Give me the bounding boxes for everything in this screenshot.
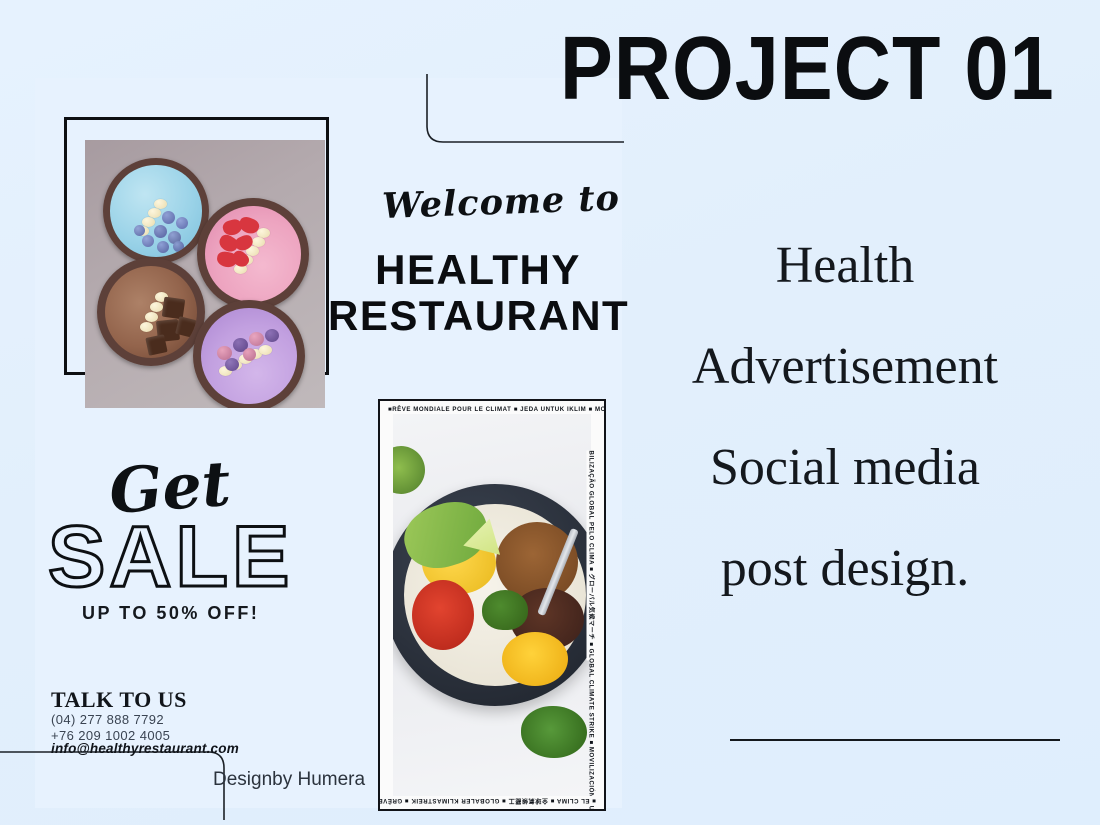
horizontal-rule [730,739,1060,741]
brand-name: HEALTHY RESTAURANT [328,247,628,339]
tomato-salsa-portion [412,580,474,650]
smoothie-bowls-photo [85,140,325,408]
poster-canvas: PROJECT 01 Health Advertisement Social m… [0,0,1100,825]
sale-script-text: Get [107,447,233,528]
avocado-half-decoration [393,446,425,494]
description-line-4: post design. [620,518,1070,619]
page-title: PROJECT 01 [560,16,1055,120]
climate-band-bottom: ■ EL CLIMA ■ 全球氣候罷工 ■ GLOBALER KLIMASTRE… [388,796,596,805]
welcome-script-text: Welcome to [382,178,621,227]
rice-base [404,504,586,686]
burrito-bowl-photo [393,414,591,796]
contact-email: info@healthyrestaurant.com [51,741,239,756]
description-line-3: Social media [620,417,1070,518]
phone-number-1: (04) 277 888 7792 [51,712,170,728]
smoothie-bowl-chocolate [97,258,205,366]
smoothie-bowl-blueberry [103,158,209,264]
climate-band-top: ■RÊVE MONDIALE POUR LE CLIMAT ■ JEDA UNT… [388,405,596,414]
cilantro-sprig [521,706,587,758]
description-line-2: Advertisement [620,316,1070,417]
design-credit: Designby Humera [213,769,365,791]
description-block: Health Advertisement Social media post d… [620,215,1070,619]
smoothie-bowl-raspberry [193,300,305,408]
smoothie-bowl-strawberry [197,198,309,310]
contact-phones: (04) 277 888 7792 +76 209 1002 4005 [51,712,170,744]
brand-line-1: HEALTHY [375,246,581,293]
contact-heading: TALK TO US [51,687,187,713]
climate-band-right: BILIZAÇÃO GLOBAL PELO CLIMA ■ グローバル気候マーチ… [587,451,596,661]
black-plate [393,484,591,706]
shredded-cheese-portion [502,632,568,686]
cilantro-garnish [482,590,528,630]
food-bowl-card: ■RÊVE MONDIALE POUR LE CLIMAT ■ JEDA UNT… [378,399,606,811]
description-line-1: Health [620,215,1070,316]
brand-line-2: RESTAURANT [328,292,629,339]
